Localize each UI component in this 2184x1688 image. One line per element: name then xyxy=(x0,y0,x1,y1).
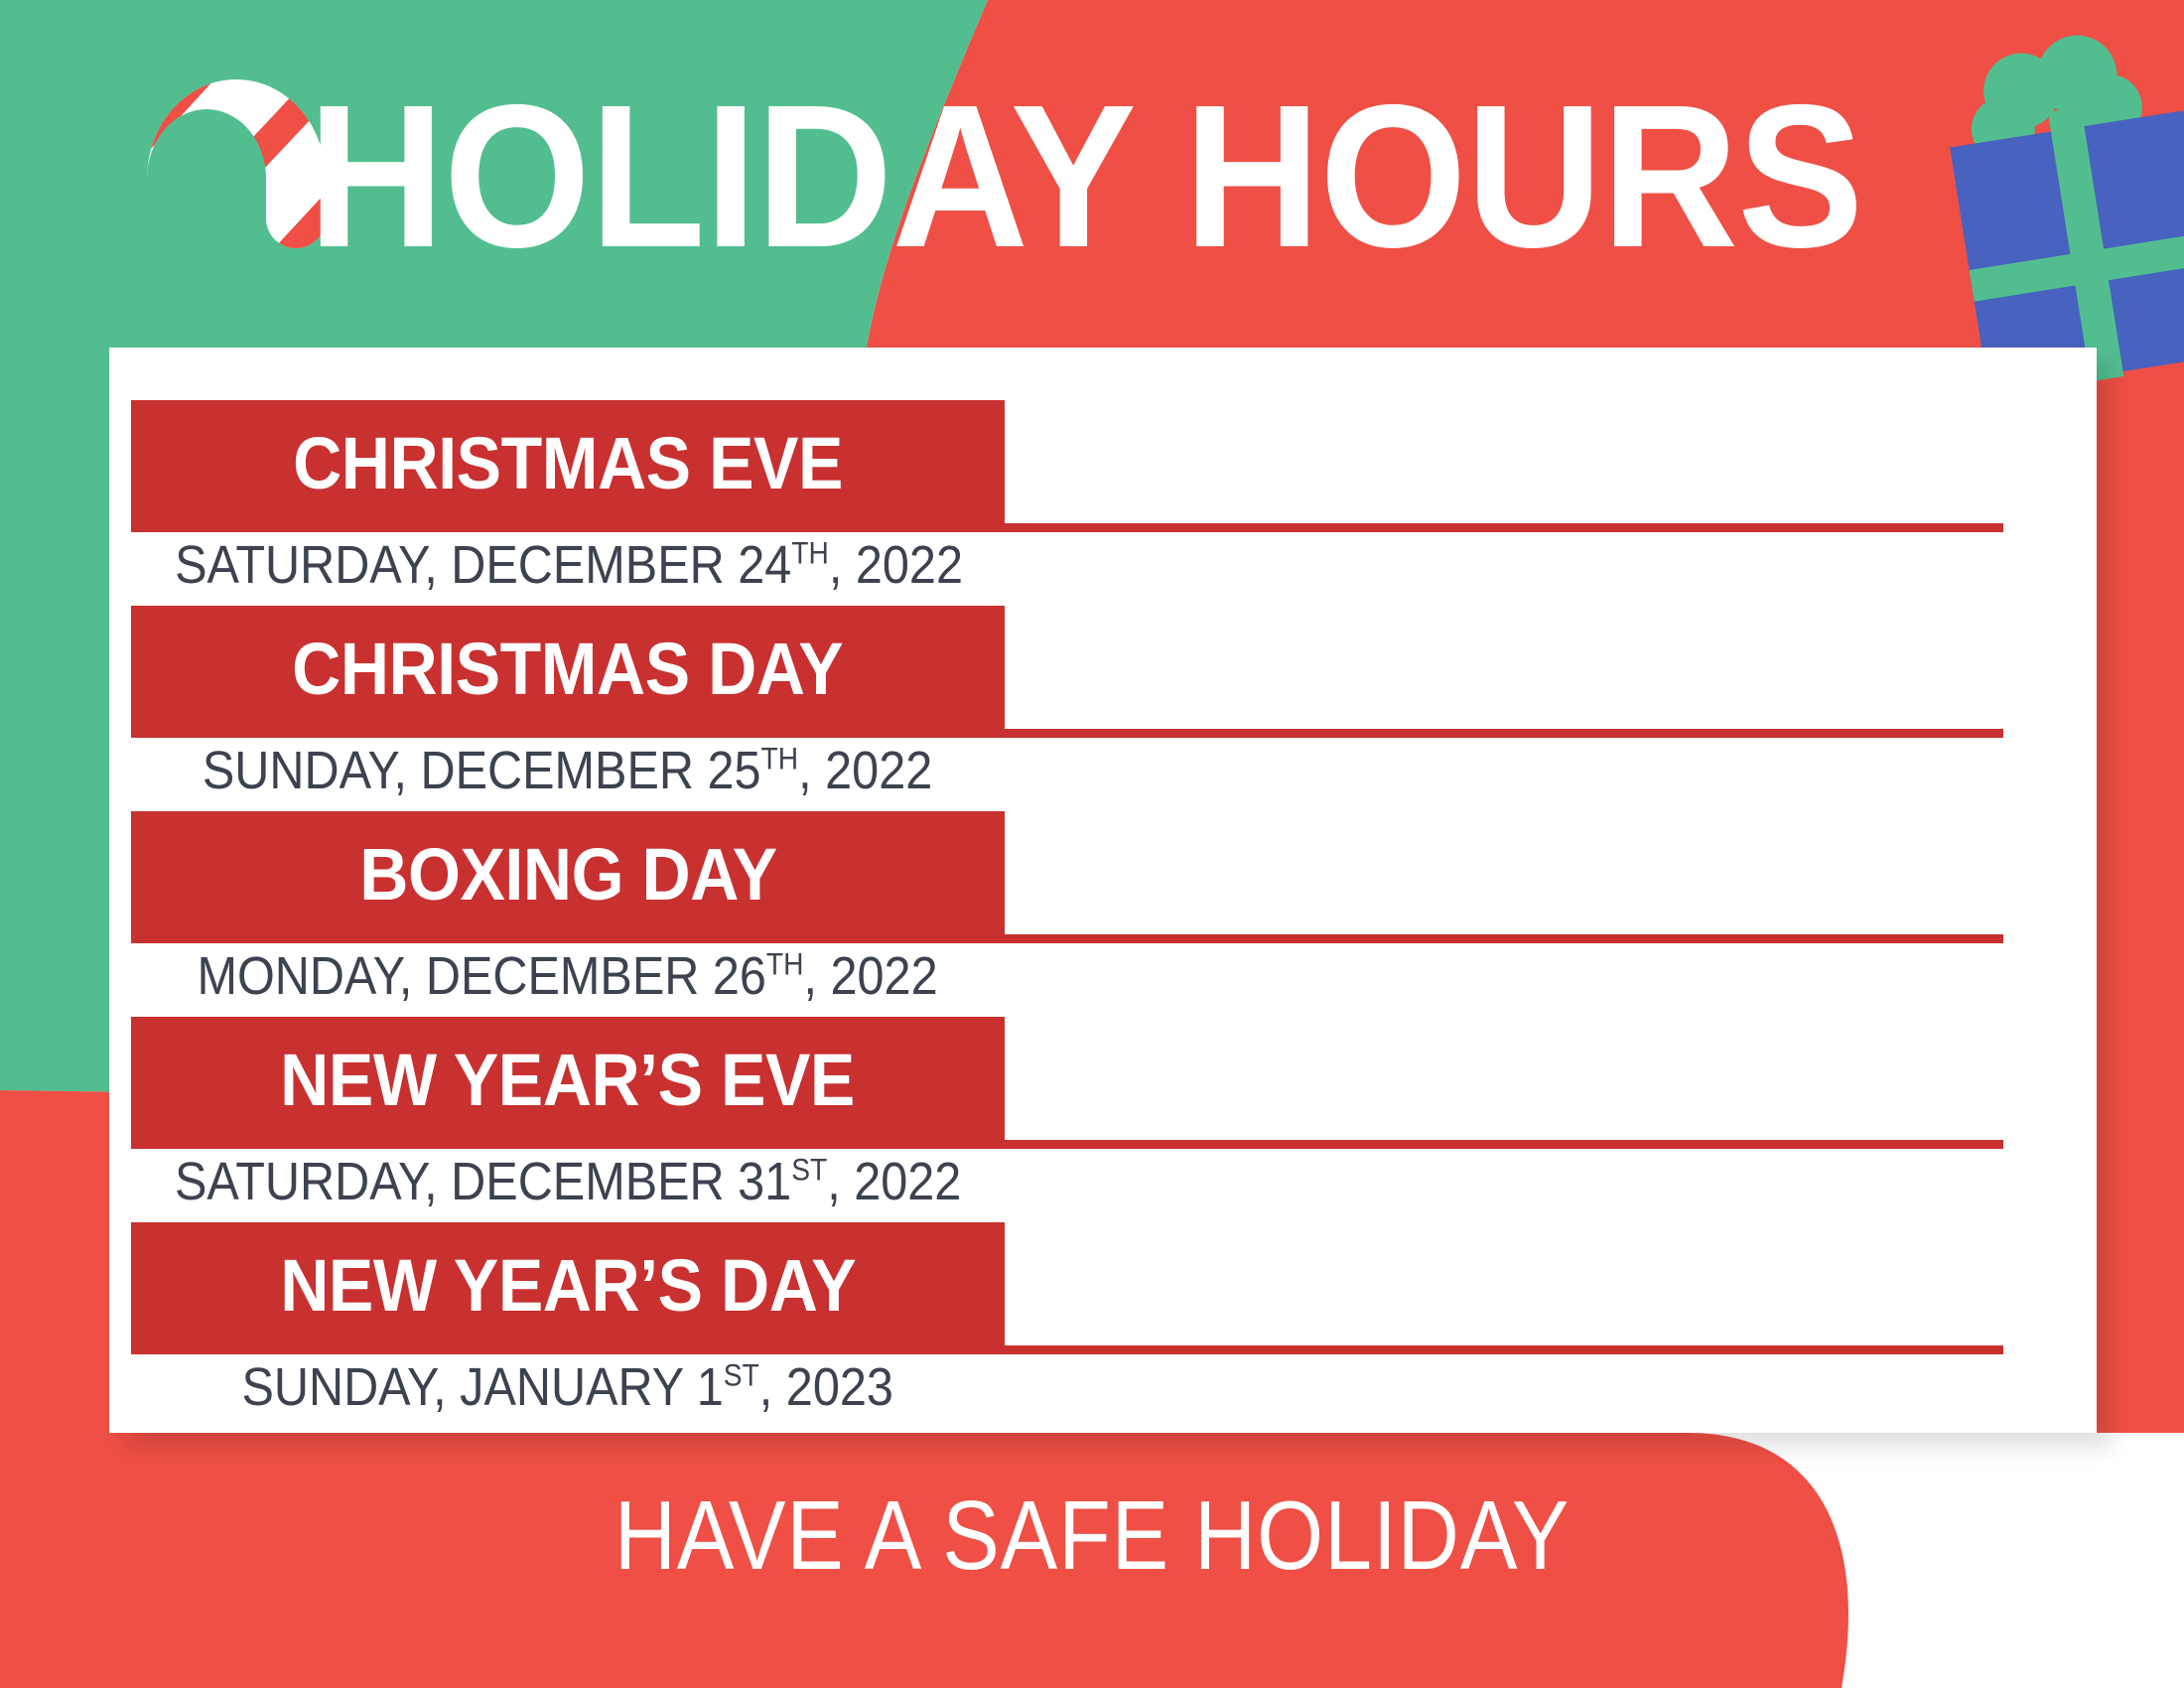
date-ordinal: ST xyxy=(791,1153,827,1188)
holiday-date: SATURDAY, DECEMBER 24TH, 2022 xyxy=(131,533,1005,597)
holiday-date: SUNDAY, DECEMBER 25TH, 2022 xyxy=(131,739,1005,802)
list-item: CHRISTMAS EVE SATURDAY, DECEMBER 24TH, 2… xyxy=(109,400,2097,606)
date-year: , 2022 xyxy=(804,946,938,1006)
date-year: , 2022 xyxy=(799,741,933,800)
holiday-name: NEW YEAR’S EVE xyxy=(281,1044,856,1117)
date-weekday: SUNDAY, JANUARY xyxy=(242,1357,697,1417)
gift-box-icon xyxy=(1926,10,2184,387)
holiday-banner: NEW YEAR’S DAY xyxy=(131,1222,1005,1349)
list-item: BOXING DAY MONDAY, DECEMBER 26TH, 2022 xyxy=(109,811,2097,1017)
date-day: 24 xyxy=(738,535,791,595)
holiday-banner: BOXING DAY xyxy=(131,811,1005,938)
date-year: , 2022 xyxy=(829,535,963,595)
date-weekday: MONDAY, DECEMBER xyxy=(198,946,713,1006)
date-year: , 2023 xyxy=(759,1357,893,1417)
page-title: HOLIDAY HOURS xyxy=(308,77,1785,276)
date-year: , 2022 xyxy=(827,1152,961,1211)
holiday-banner: CHRISTMAS EVE xyxy=(131,400,1005,527)
hours-card: CHRISTMAS EVE SATURDAY, DECEMBER 24TH, 2… xyxy=(109,348,2097,1433)
list-item: NEW YEAR’S EVE SATURDAY, DECEMBER 31ST, … xyxy=(109,1017,2097,1222)
holiday-name: NEW YEAR’S DAY xyxy=(280,1249,856,1323)
list-item: NEW YEAR’S DAY SUNDAY, JANUARY 1ST, 2023 xyxy=(109,1222,2097,1428)
date-day: 1 xyxy=(697,1357,724,1417)
date-ordinal: TH xyxy=(766,947,804,982)
holiday-name: CHRISTMAS DAY xyxy=(292,633,843,706)
holiday-date: SUNDAY, JANUARY 1ST, 2023 xyxy=(131,1355,1005,1419)
holiday-name: CHRISTMAS EVE xyxy=(293,427,843,500)
date-weekday: SUNDAY, DECEMBER xyxy=(203,741,708,800)
holiday-date: MONDAY, DECEMBER 26TH, 2022 xyxy=(131,944,1005,1008)
date-day: 31 xyxy=(738,1152,791,1211)
date-weekday: SATURDAY, DECEMBER xyxy=(175,1152,738,1211)
holiday-name: BOXING DAY xyxy=(359,838,776,912)
date-day: 26 xyxy=(713,946,766,1006)
holiday-banner: CHRISTMAS DAY xyxy=(131,606,1005,733)
holiday-banner: NEW YEAR’S EVE xyxy=(131,1017,1005,1144)
date-day: 25 xyxy=(708,741,761,800)
date-weekday: SATURDAY, DECEMBER xyxy=(175,535,738,595)
holiday-hours-poster: HOLIDAY HOURS CHRISTMAS EVE SATURDAY, DE… xyxy=(0,0,2184,1688)
date-ordinal: TH xyxy=(761,742,799,776)
date-ordinal: TH xyxy=(791,536,829,571)
list-item: CHRISTMAS DAY SUNDAY, DECEMBER 25TH, 202… xyxy=(109,606,2097,811)
hours-list: CHRISTMAS EVE SATURDAY, DECEMBER 24TH, 2… xyxy=(109,348,2097,1428)
date-ordinal: ST xyxy=(724,1358,759,1393)
footer-message: HAVE A SAFE HOLIDAY xyxy=(131,1483,2053,1587)
holiday-date: SATURDAY, DECEMBER 31ST, 2022 xyxy=(131,1150,1005,1213)
